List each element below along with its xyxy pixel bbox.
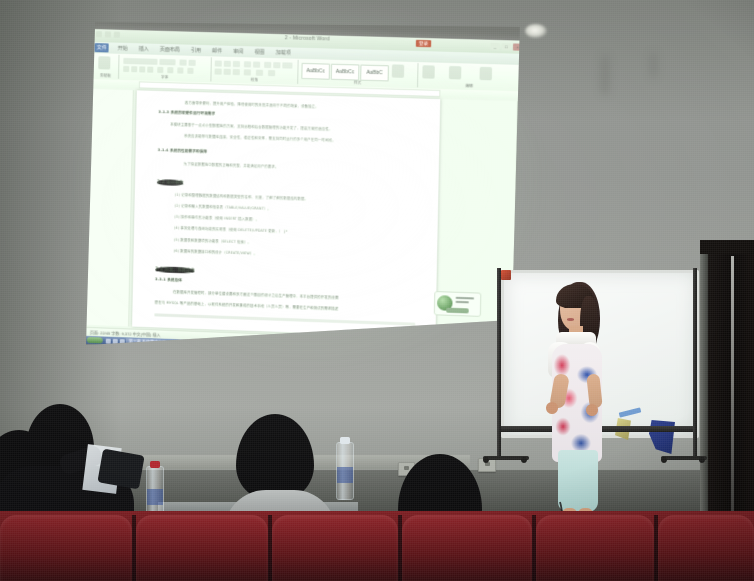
- tab-mailings[interactable]: 邮件: [210, 46, 224, 55]
- doc-list-4: (4) 事务处理与查询功能的实现表（使用 DELETE/UPDATE 更新，） …: [174, 225, 287, 234]
- bottle-cap-left: [150, 461, 160, 468]
- tab-file[interactable]: 文件: [95, 43, 109, 52]
- wall-light-reflection: [525, 24, 547, 38]
- doc-line-8: 是在与 MYSQL 等产品的基础上，以软件系统的开发和集成的技术手段（人员人员）…: [155, 299, 339, 311]
- bottle-cap-right: [340, 437, 350, 444]
- water-bottle-right: [336, 442, 354, 500]
- doc-line-7: 在数据库开发管理时，部分单位建设要和多方面这个题目的设计之后生产管理中，本平台提…: [173, 289, 339, 300]
- ribbon-group-styles: AaBbCc AaBbCc AaBbC 样式: [298, 60, 418, 88]
- download-manager-popup[interactable]: [434, 291, 482, 317]
- doc-list-3: (3) 操作和事件的功能表（使用 INSERT 插入数据）。: [174, 214, 259, 222]
- doc-line-6: 为了保证数据库中数据的正确和完整，并能满足用户的要求。: [184, 161, 279, 169]
- doc-line-2: 3.1.3 系统的软硬件运行环境需求: [158, 110, 215, 117]
- doc-heading-3: 3.3.1 系统总体: [155, 277, 182, 283]
- account-chip[interactable]: 登录: [416, 40, 431, 47]
- redo-icon[interactable]: [114, 32, 120, 38]
- presenter-mouth: [567, 318, 574, 321]
- audience-head-c: [236, 414, 314, 500]
- doc-heading-1: 3.2 设计单数: [157, 179, 184, 186]
- tab-home[interactable]: 开始: [116, 44, 130, 53]
- tab-view[interactable]: 视图: [252, 47, 266, 56]
- style-heading1[interactable]: AaBbC: [360, 65, 389, 82]
- maximize-icon[interactable]: □: [502, 43, 511, 50]
- ribbon-group-font: 字体: [119, 55, 212, 82]
- window-title: 2 - Microsoft Word: [285, 35, 330, 42]
- ribbon-group-paragraph: 段落: [211, 57, 298, 84]
- select-icon[interactable]: [480, 67, 493, 81]
- document-page[interactable]: 各方面带来便利，提升用户体验，降低使用时的负担并适用于不同的场景，设备独立。 3…: [132, 90, 440, 337]
- seat-5: [536, 515, 654, 581]
- seat-1: [0, 515, 132, 581]
- style-nospacing[interactable]: AaBbCc: [331, 64, 360, 81]
- navigation-pane[interactable]: [86, 89, 134, 326]
- seat-4: [402, 515, 532, 581]
- doc-list-6: (6) 数据库的数据接口和的设计（CREATE/VIEW）。: [174, 248, 258, 256]
- doc-line-4: 系统应该能够与数据库连接、安全性、稳定性和效率，需支持同时运行的多个用户在同一时…: [184, 133, 336, 143]
- find-icon[interactable]: [422, 65, 435, 78]
- quick-launch-icon-2[interactable]: [113, 338, 118, 343]
- tab-references[interactable]: 引用: [189, 46, 203, 55]
- tab-addins[interactable]: 加载项: [274, 48, 293, 58]
- replace-icon[interactable]: [449, 66, 462, 79]
- change-styles-icon[interactable]: [392, 64, 404, 77]
- undo-icon[interactable]: [105, 31, 111, 37]
- document-canvas[interactable]: 各方面带来便利，提升用户体验，降低使用时的负担并适用于不同的场景，设备独立。 3…: [86, 87, 524, 343]
- tab-review[interactable]: 审阅: [231, 47, 245, 56]
- ribbon-group-editing: 编辑: [418, 63, 521, 90]
- tab-page-layout[interactable]: 页面布局: [158, 45, 182, 55]
- window-controls[interactable]: _ □ ×: [490, 43, 522, 51]
- projected-window-wrapper: 2 - Microsoft Word 登录 _ □ × 文件 开始 插入 页面布…: [86, 29, 530, 367]
- style-normal[interactable]: AaBbCc: [301, 63, 330, 80]
- quick-launch-icon-1[interactable]: [106, 338, 111, 343]
- doc-line-3: 本模块主要基于一点点小型数据库的方案，支持远程和后台数据管理的功能开发了，提高方…: [170, 121, 332, 131]
- seat-6: [658, 515, 754, 581]
- wall-mark-a: [600, 55, 610, 95]
- minimize-icon[interactable]: _: [490, 43, 499, 50]
- ribbon-group-clipboard: 剪贴板: [93, 54, 119, 79]
- audience-foreground: [0, 390, 754, 581]
- door-header: [700, 240, 754, 254]
- doc-line-5: 3.1.4 系统的性能需求和保障: [158, 148, 207, 155]
- doc-list-5: (5) 数据表和数据项的功能表（SELECT 检索）。: [174, 237, 251, 245]
- audience-folder-b: [97, 449, 144, 490]
- doc-list-1: (1) 记录和整理数据的数据结构和数据类型的名称、长度，了解了解的数据结构数据。: [175, 192, 308, 201]
- popup-open-button[interactable]: [446, 308, 469, 314]
- start-button[interactable]: [87, 337, 103, 344]
- wall-mark-b: [650, 52, 657, 78]
- projection-screen: 2 - Microsoft Word 登录 _ □ × 文件 开始 插入 页面布…: [86, 20, 522, 350]
- doc-list-2: (2) 记录和输入的数据和信息表（TABLE/VALUE/GRANT）。: [175, 203, 271, 211]
- seat-3: [272, 515, 398, 581]
- doc-line-1: 各方面带来便利，提升用户体验，降低使用时的负担并适用于不同的场景，设备独立。: [185, 100, 319, 109]
- seat-2: [136, 515, 268, 581]
- whiteboard-corner-marker: [501, 270, 511, 280]
- save-icon[interactable]: [96, 31, 102, 37]
- tab-insert[interactable]: 插入: [137, 44, 151, 53]
- doc-heading-2: 3.3 开发、系统总体: [155, 266, 195, 273]
- quick-access-toolbar[interactable]: [96, 31, 120, 38]
- word-window: 2 - Microsoft Word 登录 _ □ × 文件 开始 插入 页面布…: [86, 29, 526, 360]
- classroom-scene: 2 - Microsoft Word 登录 _ □ × 文件 开始 插入 页面布…: [0, 0, 754, 581]
